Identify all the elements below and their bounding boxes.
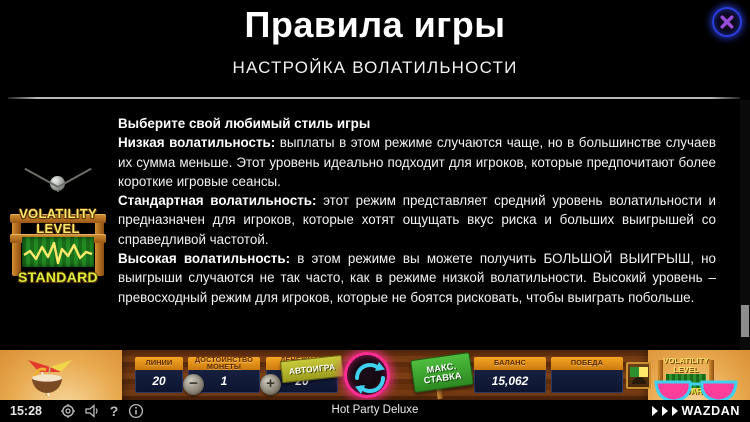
page-subtitle: НАСТРОЙКА ВОЛАТИЛЬНОСТИ (0, 58, 750, 78)
brand-name: WAZDAN (682, 404, 740, 418)
chevron-icon-2 (662, 406, 668, 416)
coconut-cocktail-icon (16, 356, 78, 400)
history-thumb-bar (630, 367, 648, 377)
badge-line2: LEVEL (10, 221, 106, 236)
meter-win[interactable]: ПОБЕДА (551, 357, 623, 393)
paragraph-low-lead: Низкая волатильность: (118, 135, 275, 150)
meter-coin-label: ДОСТОИНСТВО МОНЕТЫ (188, 357, 260, 370)
volatility-level-badge: VOLATILITY LEVEL STANDARD (10, 178, 106, 280)
rules-text-block: Выберите свой любимый стиль игры Низкая … (118, 114, 716, 307)
meter-win-value (551, 370, 623, 393)
rules-heading-text: Выберите свой любимый стиль игры (118, 116, 370, 131)
meter-balance-value: 15,062 (474, 370, 546, 393)
meter-lines-label: ЛИНИИ (135, 357, 183, 370)
dialog-header: Правила игры НАСТРОЙКА ВОЛАТИЛЬНОСТИ (0, 0, 750, 98)
badge-line1: VOLATILITY (10, 206, 106, 221)
badge-waveform-screen (22, 237, 94, 267)
status-bar: 15:28 ? Hot Party Deluxe WAZDAN (0, 400, 750, 422)
meter-win-label: ПОБЕДА (551, 357, 623, 370)
increase-button[interactable]: + (260, 374, 281, 395)
meter-balance-label: БАЛАНС (474, 357, 546, 370)
bar-volatility-line1: VOLATILITY (657, 356, 715, 365)
decrease-button[interactable]: − (183, 374, 204, 395)
rules-heading: Выберите свой любимый стиль игры (118, 114, 716, 133)
close-button[interactable] (712, 7, 742, 37)
brand-logo: WAZDAN (652, 404, 740, 418)
paragraph-standard-volatility: Стандартная волатильность: этот режим пр… (118, 191, 716, 249)
history-thumb-dome (632, 377, 646, 384)
spin-button[interactable] (344, 352, 390, 398)
meter-balance[interactable]: БАЛАНС 15,062 (474, 357, 546, 393)
chevron-icon-1 (652, 406, 658, 416)
page-title: Правила игры (0, 4, 750, 46)
bar-volatility-line2: LEVEL (657, 365, 715, 374)
badge-level-label: STANDARD (10, 269, 106, 285)
meter-lines-value: 20 (135, 370, 183, 393)
history-thumbnail-icon[interactable] (626, 362, 651, 389)
game-name: Hot Party Deluxe (0, 404, 750, 416)
header-divider (8, 97, 740, 99)
scrollbar-track[interactable] (740, 100, 750, 350)
paragraph-low-volatility: Низкая волатильность: выплаты в этом реж… (118, 133, 716, 191)
badge-wood-frame: VOLATILITY LEVEL STANDARD (10, 190, 106, 280)
game-control-bar: ЛИНИИ 20 ДОСТОИНСТВО МОНЕТЫ 1 ДЕНЕЖНАЯ С… (0, 350, 750, 400)
paragraph-high-volatility: Высокая волатильность: в этом режиме вы … (118, 249, 716, 307)
meter-lines[interactable]: ЛИНИИ 20 (135, 357, 183, 393)
paragraph-high-lead: Высокая волатильность: (118, 251, 290, 266)
rules-content-area: VOLATILITY LEVEL STANDARD Выберите свой … (0, 100, 750, 350)
paragraph-standard-lead: Стандартная волатильность: (118, 193, 316, 208)
scrollbar-thumb[interactable] (741, 305, 749, 337)
sunglasses-icon (650, 378, 742, 400)
chevron-icon-3 (672, 406, 678, 416)
